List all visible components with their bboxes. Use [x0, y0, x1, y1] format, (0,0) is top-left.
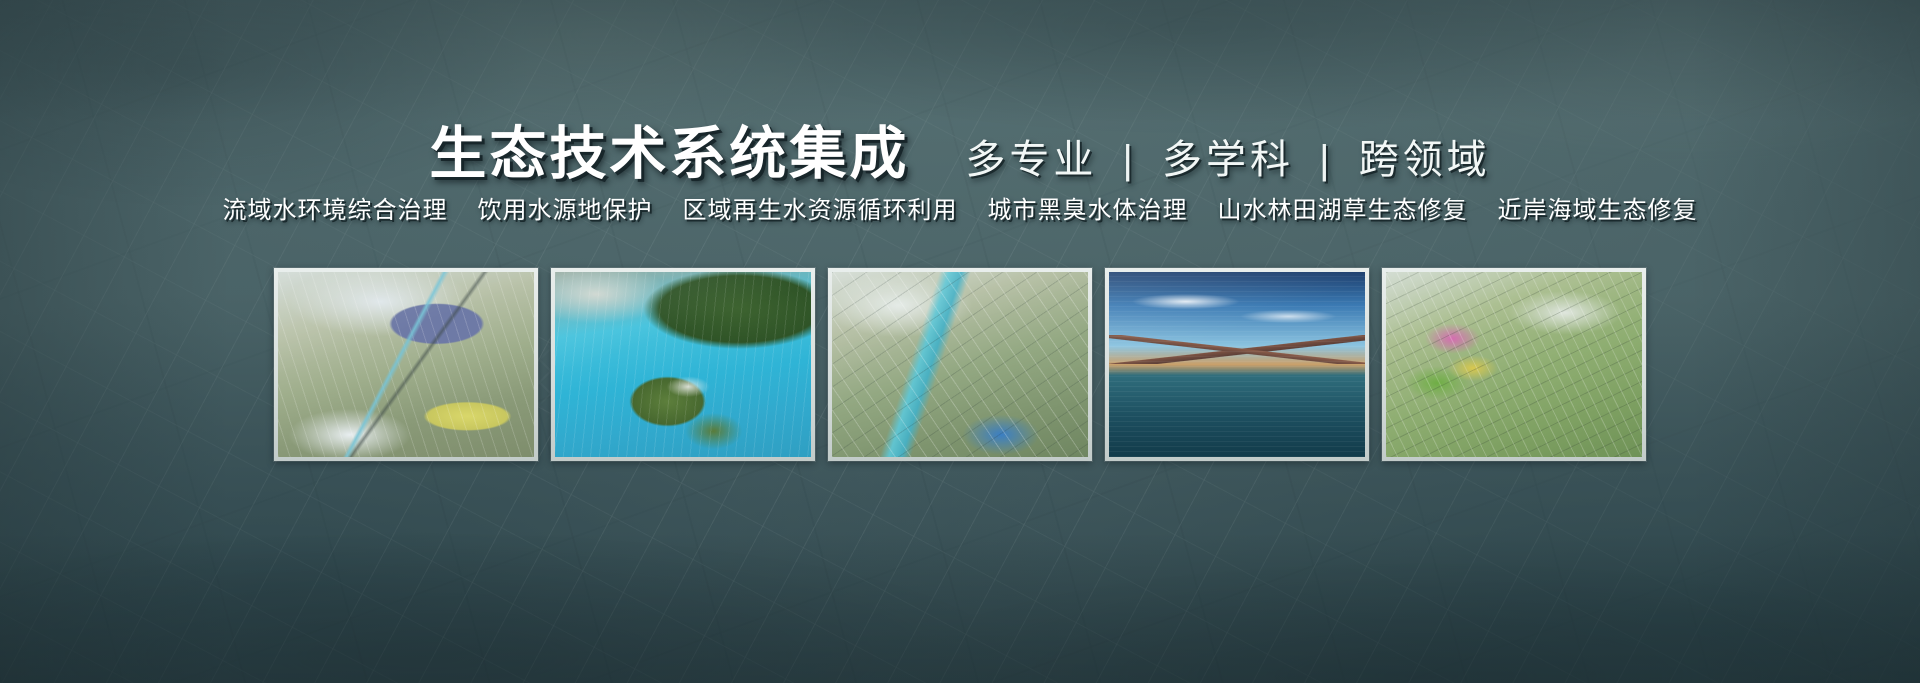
tagline-item: 近岸海域生态修复 [1498, 190, 1698, 225]
project-thumbnail[interactable] [551, 268, 815, 461]
tagline-item: 区域再生水资源循环利用 [683, 190, 958, 225]
thumbnail-image [278, 272, 534, 457]
thumbnail-image [555, 272, 811, 457]
tagline-item: 山水林田湖草生态修复 [1218, 190, 1468, 225]
scene-lake-illustration [555, 272, 811, 457]
subtitle-part-3: 跨领域 [1359, 138, 1491, 182]
project-thumbnail-strip [274, 268, 1646, 461]
thumbnail-image [1109, 272, 1365, 457]
project-thumbnail[interactable] [1382, 268, 1646, 461]
project-thumbnail[interactable] [1105, 268, 1369, 461]
project-thumbnail[interactable] [274, 268, 538, 461]
headline-row: 生态技术系统集成 多专业 | 多学科 | 跨领域 [0, 108, 1920, 190]
tagline-item: 城市黑臭水体治理 [988, 190, 1188, 225]
thumbnail-image [832, 272, 1088, 457]
tagline-row: 流域水环境综合治理 饮用水源地保护 区域再生水资源循环利用 城市黑臭水体治理 山… [0, 190, 1920, 225]
subtitle-separator-2: | [1309, 138, 1343, 182]
ecology-hero-banner: 生态技术系统集成 多专业 | 多学科 | 跨领域 流域水环境综合治理 饮用水源地… [0, 0, 1920, 683]
scene-farm-illustration [1386, 272, 1642, 457]
page-subtitle: 多专业 | 多学科 | 跨领域 [965, 127, 1490, 185]
subtitle-part-2: 多学科 [1162, 138, 1294, 182]
scene-basin-illustration [278, 272, 534, 457]
scene-river-illustration [832, 272, 1088, 457]
scene-mountain-illustration [1109, 272, 1365, 457]
tagline-item: 流域水环境综合治理 [223, 190, 448, 225]
project-thumbnail[interactable] [828, 268, 1092, 461]
subtitle-separator-1: | [1112, 138, 1146, 182]
page-title: 生态技术系统集成 [429, 108, 909, 190]
thumbnail-image [1386, 272, 1642, 457]
tagline-item: 饮用水源地保护 [478, 190, 653, 225]
subtitle-part-1: 多专业 [965, 138, 1097, 182]
banner-content: 生态技术系统集成 多专业 | 多学科 | 跨领域 流域水环境综合治理 饮用水源地… [0, 0, 1920, 683]
